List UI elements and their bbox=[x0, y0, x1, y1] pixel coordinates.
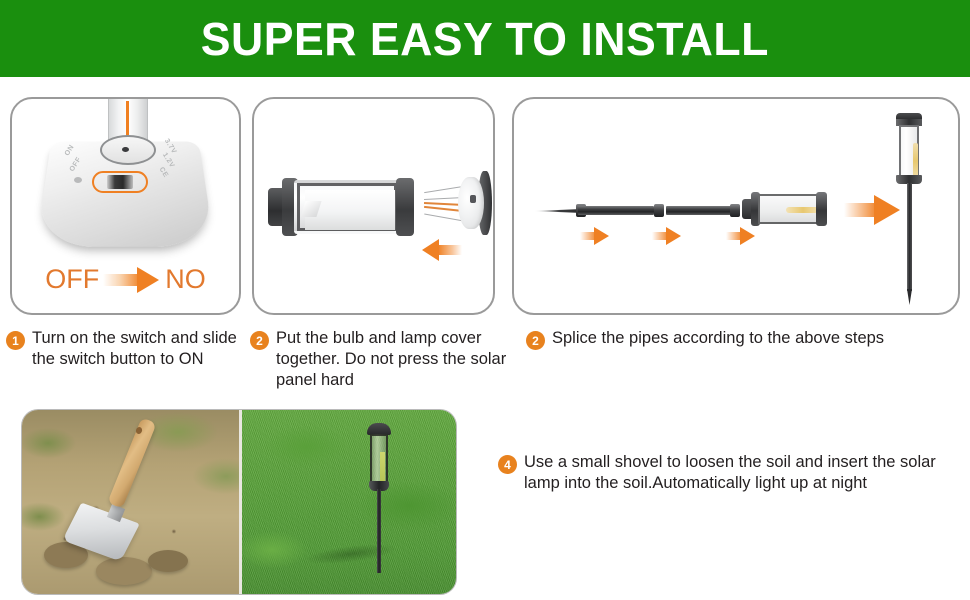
shovel-handle bbox=[107, 418, 156, 509]
pipe-joint bbox=[654, 204, 664, 217]
pipe-joint bbox=[730, 204, 740, 217]
caption-step-2: 2 Put the bulb and lamp cover together. … bbox=[250, 328, 518, 391]
photo-lamp-grass bbox=[239, 410, 456, 594]
assembled-lamp bbox=[892, 113, 926, 305]
lamp-filament bbox=[913, 143, 918, 179]
cap-small-hole bbox=[74, 177, 82, 183]
solar-panel-cap bbox=[456, 171, 492, 235]
lamp-cover-tube bbox=[268, 174, 428, 240]
soil-clod bbox=[96, 557, 152, 585]
lamp-stake-point bbox=[907, 289, 912, 305]
arrow-right-icon bbox=[580, 227, 610, 245]
step-number-badge: 1 bbox=[6, 331, 25, 350]
lamp-glass bbox=[899, 125, 919, 177]
lamp-glass bbox=[758, 194, 818, 224]
install-instructions-page: SUPER EASY TO INSTALL ON OFF 3.7V 1.2V C… bbox=[0, 0, 970, 600]
step-number-badge: 2 bbox=[526, 331, 545, 350]
caption-text: Put the bulb and lamp cover together. Do… bbox=[276, 328, 518, 391]
tube-collar-right bbox=[396, 178, 414, 236]
arrow-left-icon bbox=[422, 239, 462, 261]
lamp-collar-right bbox=[816, 192, 827, 226]
pipe-segment bbox=[666, 206, 734, 215]
lamp-assembly-horizontal bbox=[742, 192, 828, 226]
photo-strip bbox=[22, 410, 456, 594]
lamp-filament bbox=[786, 207, 820, 213]
soil-clod bbox=[148, 550, 188, 572]
off-to-on-label-group: OFF NO bbox=[12, 264, 239, 295]
cap-connector-nub bbox=[470, 195, 476, 203]
solar-cap-illustration: ON OFF 3.7V 1.2V CE bbox=[12, 99, 239, 254]
step-number-badge: 4 bbox=[498, 455, 517, 474]
photo-soil-shovel bbox=[22, 410, 239, 594]
header-banner: SUPER EASY TO INSTALL bbox=[0, 0, 970, 77]
lamp-stake-rod bbox=[377, 489, 381, 573]
arrow-right-icon bbox=[652, 227, 682, 245]
lamp-stake-rod bbox=[907, 183, 912, 291]
lamp-glass bbox=[370, 434, 388, 484]
step-panel-pipes bbox=[512, 97, 960, 315]
caption-step-1: 1 Turn on the switch and slide the switc… bbox=[6, 328, 242, 370]
caption-text: Turn on the switch and slide the switch … bbox=[32, 328, 242, 370]
step-panel-switch: ON OFF 3.7V 1.2V CE OFF NO bbox=[10, 97, 241, 315]
caption-step-3: 2 Splice the pipes according to the abov… bbox=[526, 328, 966, 350]
caption-text: Use a small shovel to loosen the soil an… bbox=[524, 452, 968, 494]
arrow-right-icon bbox=[726, 227, 756, 245]
pipe-segment bbox=[578, 206, 654, 215]
arrow-right-icon bbox=[103, 267, 161, 293]
stake-tip bbox=[534, 209, 582, 213]
cap-center-dot bbox=[122, 147, 129, 152]
step-number-badge: 2 bbox=[250, 331, 269, 350]
caption-text: Splice the pipes according to the above … bbox=[552, 328, 884, 349]
page-title: SUPER EASY TO INSTALL bbox=[201, 16, 769, 62]
label-on: NO bbox=[165, 264, 206, 295]
lamp-filament bbox=[380, 452, 385, 482]
caption-step-4: 4 Use a small shovel to loosen the soil … bbox=[498, 452, 968, 494]
installed-solar-lamp bbox=[366, 423, 392, 573]
tube-glass bbox=[294, 180, 400, 234]
step-panel-bulb-cover bbox=[252, 97, 495, 315]
cap-face bbox=[458, 177, 484, 229]
label-off: OFF bbox=[45, 264, 99, 295]
switch-highlight-oval bbox=[92, 171, 148, 193]
